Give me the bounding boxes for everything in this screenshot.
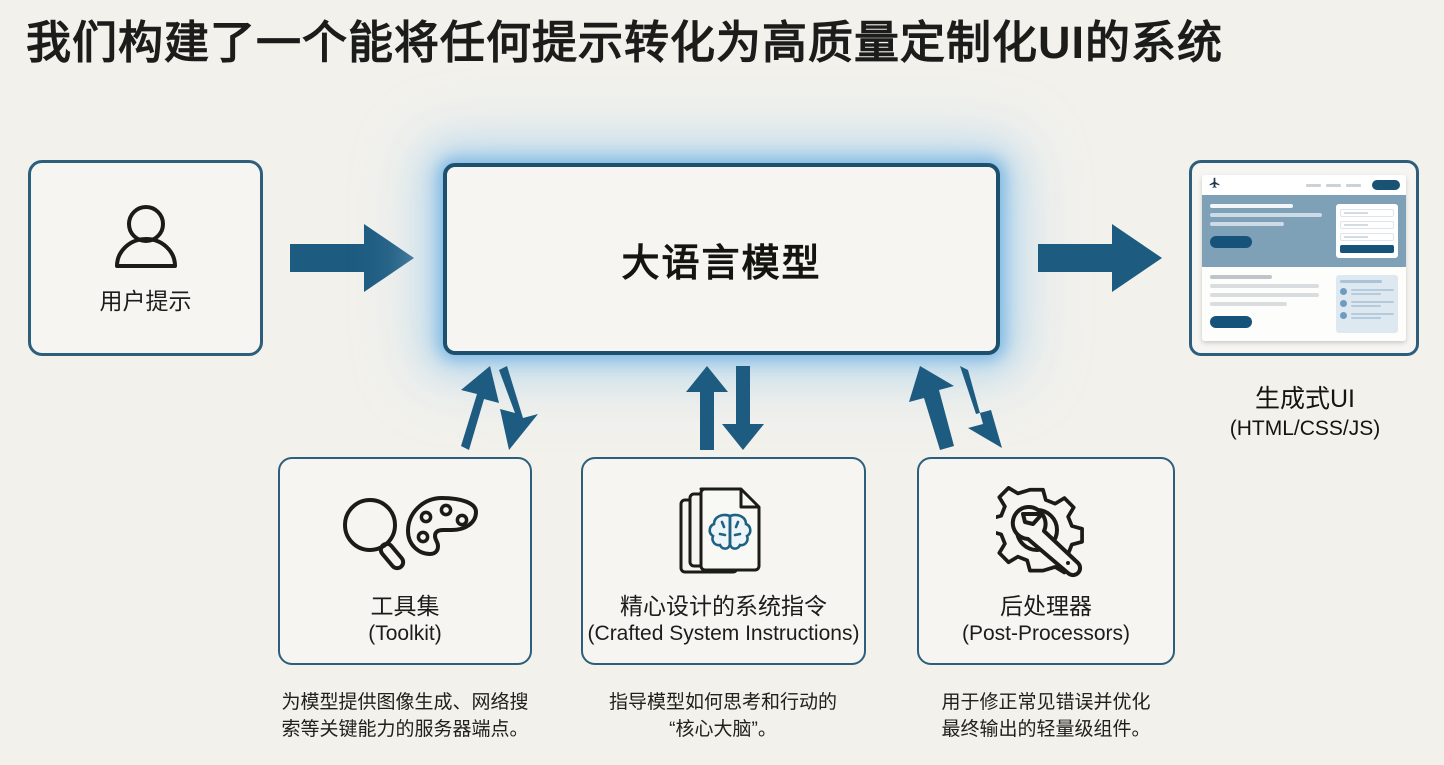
mockup-form-submit-button[interactable]	[1340, 245, 1394, 253]
mockup-hero-line	[1210, 204, 1293, 208]
airplane-icon	[1208, 176, 1221, 194]
mockup-hero-line	[1210, 213, 1322, 217]
mockup-nav-links	[1306, 180, 1400, 190]
generated-ui-caption: 生成式UI (HTML/CSS/JS)	[1160, 384, 1444, 443]
mockup-list-item[interactable]	[1340, 300, 1394, 307]
postprocessors-caption-line: 用于修正常见错误并优化	[905, 690, 1187, 717]
postprocessors-caption: 用于修正常见错误并优化 最终输出的轻量级组件。	[905, 690, 1187, 744]
llm-card: 大语言模型	[443, 163, 1000, 355]
mockup-hero-line	[1210, 222, 1284, 226]
ui-mockup	[1202, 175, 1406, 341]
instructions-caption-line: “核心大脑”。	[573, 717, 873, 744]
arrow-pair-llm-instructions	[672, 364, 782, 452]
mockup-body-line	[1210, 284, 1319, 288]
generated-ui-card	[1189, 160, 1419, 356]
arrow-pair-llm-toolkit	[447, 364, 557, 452]
mockup-bullet-icon	[1340, 288, 1347, 295]
user-prompt-label: 用户提示	[100, 288, 192, 316]
arrow-input-to-llm	[290, 222, 415, 294]
mockup-list-card	[1336, 275, 1398, 333]
llm-label: 大语言模型	[621, 232, 821, 287]
mockup-topbar	[1202, 175, 1406, 195]
toolkit-label-en: (Toolkit)	[368, 621, 442, 646]
postprocessors-label-en: (Post-Processors)	[962, 621, 1130, 646]
mockup-body-line	[1210, 293, 1319, 297]
instructions-label-cn: 精心设计的系统指令	[588, 593, 860, 621]
toolkit-card: 工具集 (Toolkit)	[278, 457, 532, 665]
mockup-nav-link[interactable]	[1306, 184, 1321, 187]
toolkit-caption: 为模型提供图像生成、网络搜 索等关键能力的服务器端点。	[252, 690, 558, 744]
user-icon	[107, 201, 185, 282]
mockup-hero-cta-button[interactable]	[1210, 236, 1252, 248]
mockup-body-line	[1210, 275, 1272, 279]
mockup-list-title	[1340, 280, 1382, 283]
arrow-pair-llm-postprocessors	[902, 364, 1012, 452]
slide-canvas: 我们构建了一个能将任何提示转化为高质量定制化UI的系统 用户提示 大语言模型	[0, 0, 1444, 765]
search-palette-icon	[330, 476, 480, 591]
generated-ui-label-en: (HTML/CSS/JS)	[1160, 415, 1444, 442]
toolkit-label-cn: 工具集	[368, 593, 442, 621]
instructions-label-en: (Crafted System Instructions)	[588, 621, 860, 646]
instructions-caption: 指导模型如何思考和行动的 “核心大脑”。	[573, 690, 873, 744]
toolkit-caption-line: 索等关键能力的服务器端点。	[252, 717, 558, 744]
postprocessors-card: 后处理器 (Post-Processors)	[917, 457, 1175, 665]
mockup-nav-link[interactable]	[1326, 184, 1341, 187]
arrow-llm-to-output	[1038, 222, 1163, 294]
mockup-nav-button[interactable]	[1372, 180, 1400, 190]
instructions-card: 精心设计的系统指令 (Crafted System Instructions)	[581, 457, 866, 665]
mockup-hero-form	[1336, 204, 1398, 258]
instructions-caption-line: 指导模型如何思考和行动的	[573, 690, 873, 717]
toolkit-caption-line: 为模型提供图像生成、网络搜	[252, 690, 558, 717]
mockup-list-item[interactable]	[1340, 312, 1394, 319]
mockup-body	[1202, 267, 1406, 341]
user-prompt-card: 用户提示	[28, 160, 263, 356]
document-brain-icon	[672, 476, 776, 591]
mockup-form-field[interactable]	[1340, 209, 1394, 217]
mockup-body-cta-button[interactable]	[1210, 316, 1252, 328]
generated-ui-label-cn: 生成式UI	[1160, 384, 1444, 415]
mockup-list-item[interactable]	[1340, 288, 1394, 295]
mockup-hero	[1202, 195, 1406, 267]
mockup-form-field[interactable]	[1340, 221, 1394, 229]
mockup-form-field[interactable]	[1340, 233, 1394, 241]
postprocessors-caption-line: 最终输出的轻量级组件。	[905, 717, 1187, 744]
page-title: 我们构建了一个能将任何提示转化为高质量定制化UI的系统	[26, 16, 1416, 70]
mockup-bullet-icon	[1340, 312, 1347, 319]
mockup-nav-link[interactable]	[1346, 184, 1361, 187]
mockup-bullet-icon	[1340, 300, 1347, 307]
mockup-body-line	[1210, 302, 1287, 306]
postprocessors-label-cn: 后处理器	[962, 593, 1130, 621]
gear-wrench-icon	[996, 476, 1096, 591]
